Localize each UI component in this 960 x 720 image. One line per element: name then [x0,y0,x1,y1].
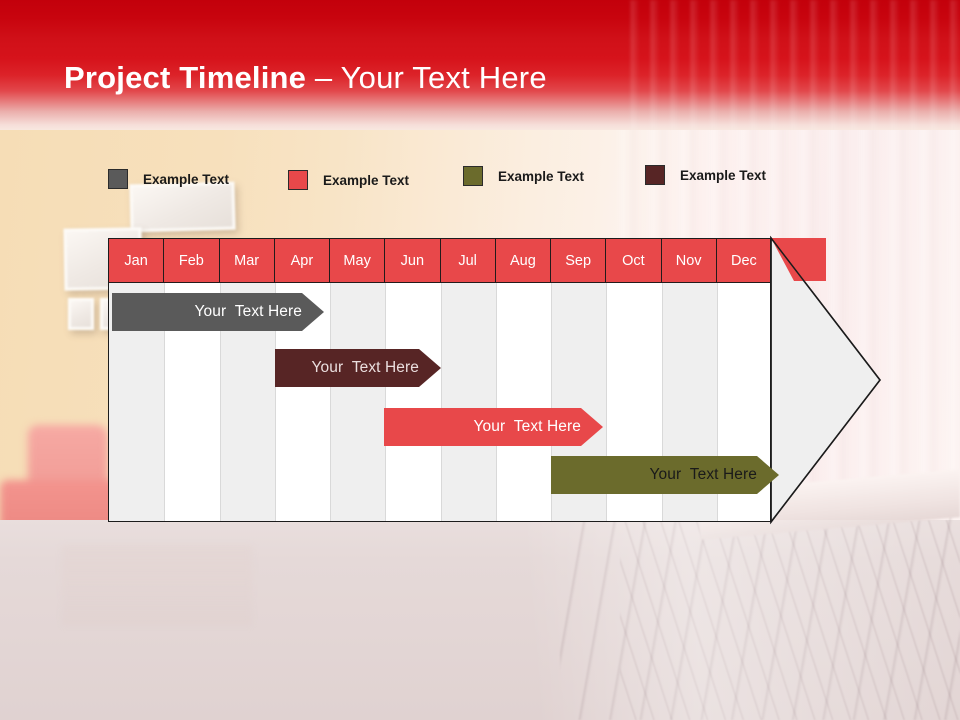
slide-canvas: Project Timeline – Your Text Here Exampl… [0,0,960,720]
legend-item-4[interactable]: Example Text [645,165,766,185]
page-title-regular: – Your Text Here [306,60,547,95]
legend-swatch-gray-icon [108,169,128,189]
legend-swatch-red-icon [288,170,308,190]
month-header-nov[interactable]: Nov [662,239,717,282]
legend-label-4: Example Text [680,168,766,183]
column-divider [441,282,442,522]
month-header-jan[interactable]: Jan [109,239,164,282]
legend-item-1[interactable]: Example Text [108,169,229,189]
background-picture-frame [129,182,235,233]
task-bar-2[interactable]: Your Text Here [275,349,441,387]
background-picture-frame [68,298,94,330]
task-bar-2-label: Your Text Here [312,349,419,387]
legend-label-3: Example Text [498,169,584,184]
timeline-chart: Jan Feb Mar Apr May Jun Jul Aug Sep Oct … [108,238,880,522]
month-header-jul[interactable]: Jul [441,239,496,282]
month-header-apr[interactable]: Apr [275,239,330,282]
task-bar-4-label: Your Text Here [650,456,757,494]
header-underline [109,282,771,283]
month-header-jun[interactable]: Jun [385,239,440,282]
legend-label-1: Example Text [143,172,229,187]
task-bar-1-label: Your Text Here [195,293,302,331]
legend-swatch-olive-icon [463,166,483,186]
column-divider [496,282,497,522]
legend-item-2[interactable]: Example Text [288,170,409,190]
column-divider [330,282,331,522]
legend-label-2: Example Text [323,173,409,188]
legend-swatch-maroon-icon [645,165,665,185]
month-header-oct[interactable]: Oct [606,239,661,282]
background-table-reflection [62,546,252,626]
page-title: Project Timeline – Your Text Here [64,60,547,96]
column-divider [385,282,386,522]
task-bar-4[interactable]: Your Text Here [551,456,779,494]
task-bar-3-label: Your Text Here [474,408,581,446]
task-bar-3[interactable]: Your Text Here [384,408,603,446]
page-title-bold: Project Timeline [64,60,306,95]
month-header-sep[interactable]: Sep [551,239,606,282]
month-header-aug[interactable]: Aug [496,239,551,282]
month-header-may[interactable]: May [330,239,385,282]
month-header-feb[interactable]: Feb [164,239,219,282]
title-band-streaks [620,0,960,130]
legend-item-3[interactable]: Example Text [463,166,584,186]
task-bar-1[interactable]: Your Text Here [112,293,324,331]
month-header-dec[interactable]: Dec [717,239,771,282]
month-header-mar[interactable]: Mar [220,239,275,282]
